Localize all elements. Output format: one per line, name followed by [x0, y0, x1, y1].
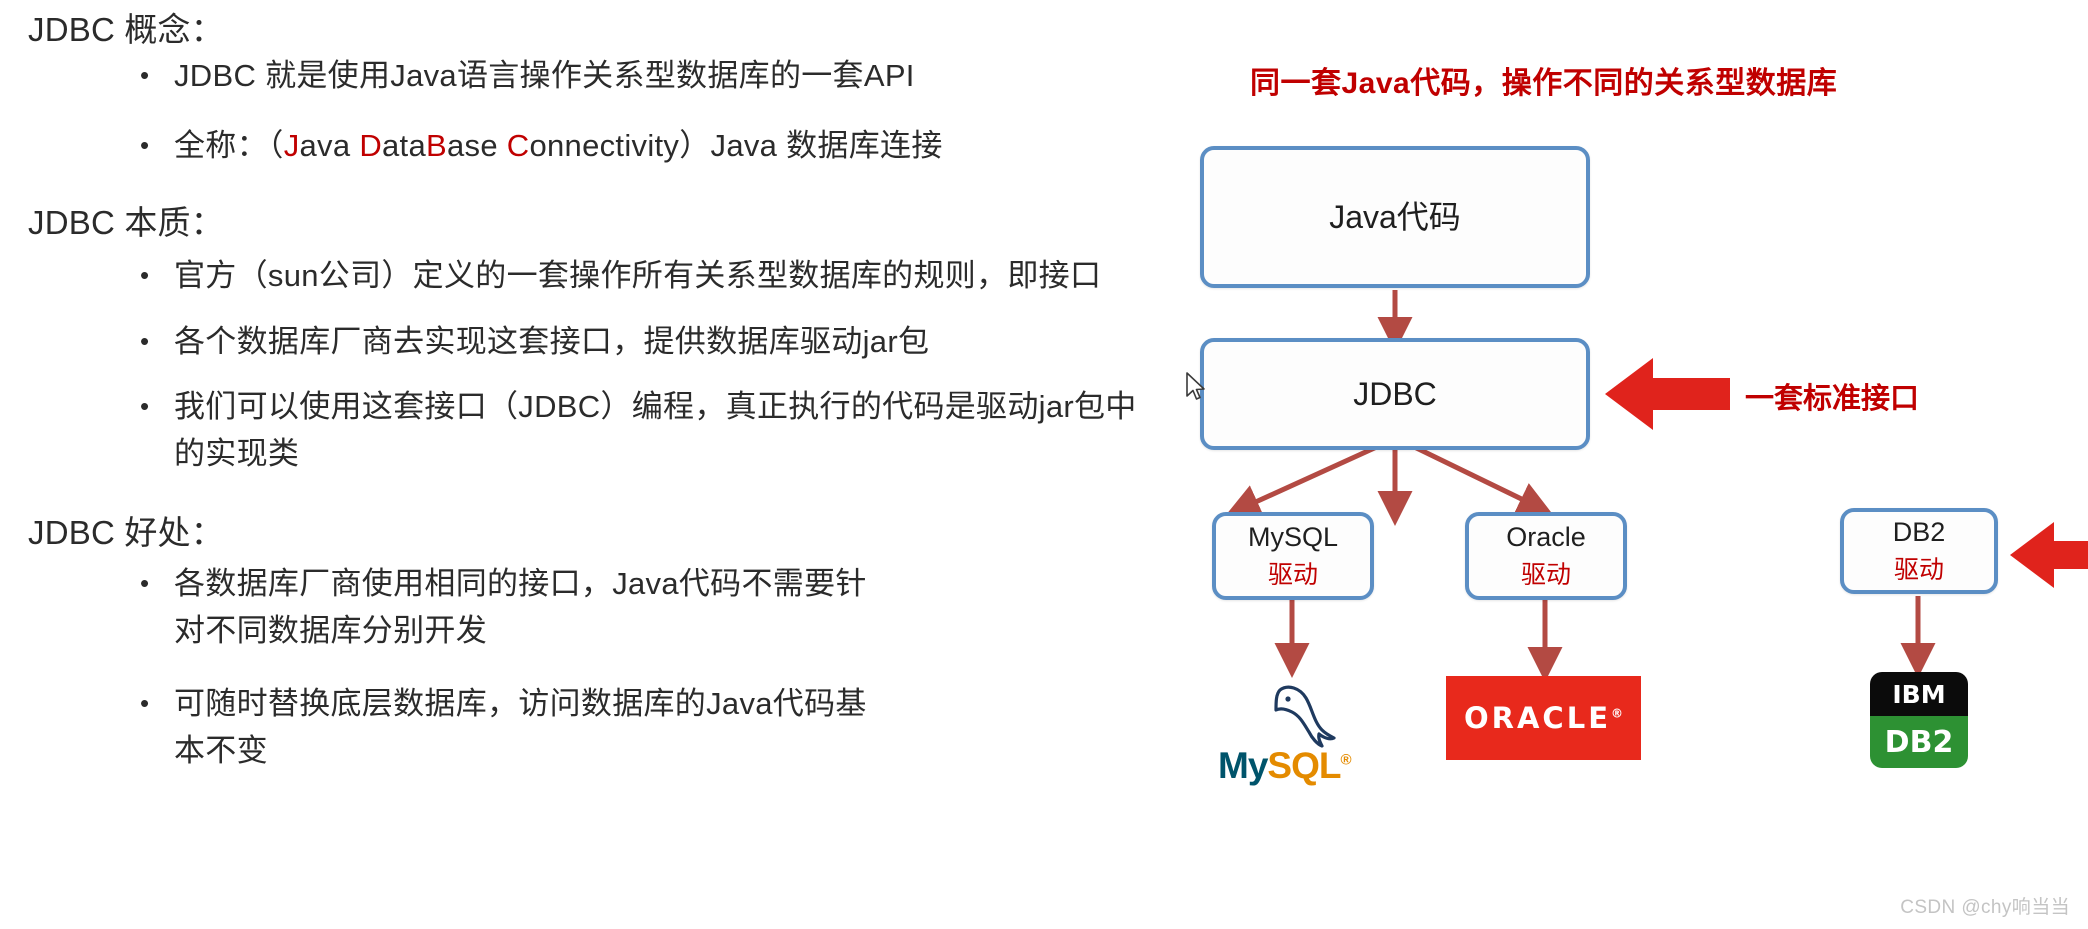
section-heading-benefits: JDBC 好处： — [28, 513, 224, 553]
bullet-marker: • — [140, 383, 174, 430]
bullet-item: • 可随时替换底层数据库，访问数据库的Java代码基本不变 — [140, 680, 880, 774]
slide-canvas: JDBC 概念： • JDBC 就是使用Java语言操作关系型数据库的一套API… — [0, 0, 2088, 929]
node-oracle-driver[interactable]: Oracle 驱动 — [1465, 512, 1627, 600]
bullet-item: • 我们可以使用这套接口（JDBC）编程，真正执行的代码是驱动jar包中的实现类 — [140, 383, 1150, 477]
bullet-marker: • — [140, 252, 174, 299]
bullet-marker: • — [140, 560, 174, 607]
bullet-text: 各数据库厂商使用相同的接口，Java代码不需要针对不同数据库分别开发 — [174, 560, 880, 654]
mouse-cursor-icon — [1185, 372, 1207, 404]
bullet-marker: • — [140, 52, 174, 99]
standard-interface-arrow-icon — [1605, 356, 1730, 432]
oracle-logo: ORACLE® — [1446, 676, 1641, 760]
ibm-logo-band: IBM — [1870, 672, 1968, 716]
bullet-text: 全称：（Java DataBase Connectivity）Java 数据库连… — [174, 122, 943, 169]
diagram-title: 同一套Java代码，操作不同的关系型数据库 — [1250, 58, 1837, 102]
bullet-marker: • — [140, 680, 174, 727]
implementation-class-arrow-icon — [2010, 520, 2088, 590]
oracle-wordmark: ORACLE® — [1464, 701, 1623, 735]
db2-logo: IBM DB2 — [1870, 672, 1968, 768]
mysql-logo: MySQL® — [1218, 672, 1368, 784]
mysql-wordmark: MySQL® — [1218, 747, 1351, 784]
node-mysql-driver-sub: 驱动 — [1268, 561, 1318, 590]
bullet-text: 官方（sun公司）定义的一套操作所有关系型数据库的规则，即接口 — [174, 252, 1101, 299]
csdn-watermark: CSDN @chy响当当 — [1900, 892, 2070, 919]
db2-product-band: DB2 — [1870, 716, 1968, 768]
node-oracle-driver-title: Oracle — [1506, 522, 1586, 553]
mysql-wordmark-my: My — [1218, 745, 1267, 786]
db2-wordmark: DB2 — [1885, 725, 1954, 760]
oracle-registered-mark: ® — [1611, 706, 1623, 720]
ibm-wordmark: IBM — [1892, 680, 1945, 709]
bullet-item: • 官方（sun公司）定义的一套操作所有关系型数据库的规则，即接口 — [140, 252, 1160, 299]
node-db2-driver-title: DB2 — [1893, 517, 1946, 548]
bullet-marker: • — [140, 318, 174, 365]
bullet-item: • 各个数据库厂商去实现这套接口，提供数据库驱动jar包 — [140, 318, 1160, 365]
mysql-wordmark-sql: SQL — [1267, 745, 1340, 786]
jdbc-architecture-diagram: 同一套Java代码，操作不同的关系型数据库 Java — [1180, 0, 2088, 929]
bullet-text: JDBC 就是使用Java语言操作关系型数据库的一套API — [174, 52, 915, 99]
connector-arrows — [1180, 0, 2088, 929]
section-heading-concept: JDBC 概念： — [28, 10, 224, 50]
bullet-text: 各个数据库厂商去实现这套接口，提供数据库驱动jar包 — [174, 318, 929, 365]
node-db2-driver[interactable]: DB2 驱动 — [1840, 508, 1998, 594]
bullet-text: 可随时替换底层数据库，访问数据库的Java代码基本不变 — [174, 680, 880, 774]
bullet-marker: • — [140, 122, 174, 169]
mysql-wordmark-tm: ® — [1340, 752, 1350, 769]
node-java-code[interactable]: Java代码 — [1200, 146, 1590, 288]
annotation-standard-interface: 一套标准接口 — [1745, 375, 1919, 417]
bullet-item: • JDBC 就是使用Java语言操作关系型数据库的一套API — [140, 52, 1160, 99]
section-heading-essence: JDBC 本质： — [28, 203, 224, 243]
node-java-code-title: Java代码 — [1329, 199, 1461, 236]
node-jdbc-title: JDBC — [1353, 376, 1437, 413]
node-jdbc[interactable]: JDBC — [1200, 338, 1590, 450]
node-mysql-driver[interactable]: MySQL 驱动 — [1212, 512, 1374, 600]
text-content-column: JDBC 概念： • JDBC 就是使用Java语言操作关系型数据库的一套API… — [0, 0, 1180, 929]
bullet-item: • 各数据库厂商使用相同的接口，Java代码不需要针对不同数据库分别开发 — [140, 560, 880, 654]
bullet-text: 我们可以使用这套接口（JDBC）编程，真正执行的代码是驱动jar包中的实现类 — [174, 383, 1150, 477]
node-oracle-driver-sub: 驱动 — [1521, 561, 1571, 590]
node-db2-driver-sub: 驱动 — [1894, 556, 1944, 585]
node-mysql-driver-title: MySQL — [1248, 522, 1338, 553]
bullet-item: • 全称：（Java DataBase Connectivity）Java 数据… — [140, 122, 1160, 169]
